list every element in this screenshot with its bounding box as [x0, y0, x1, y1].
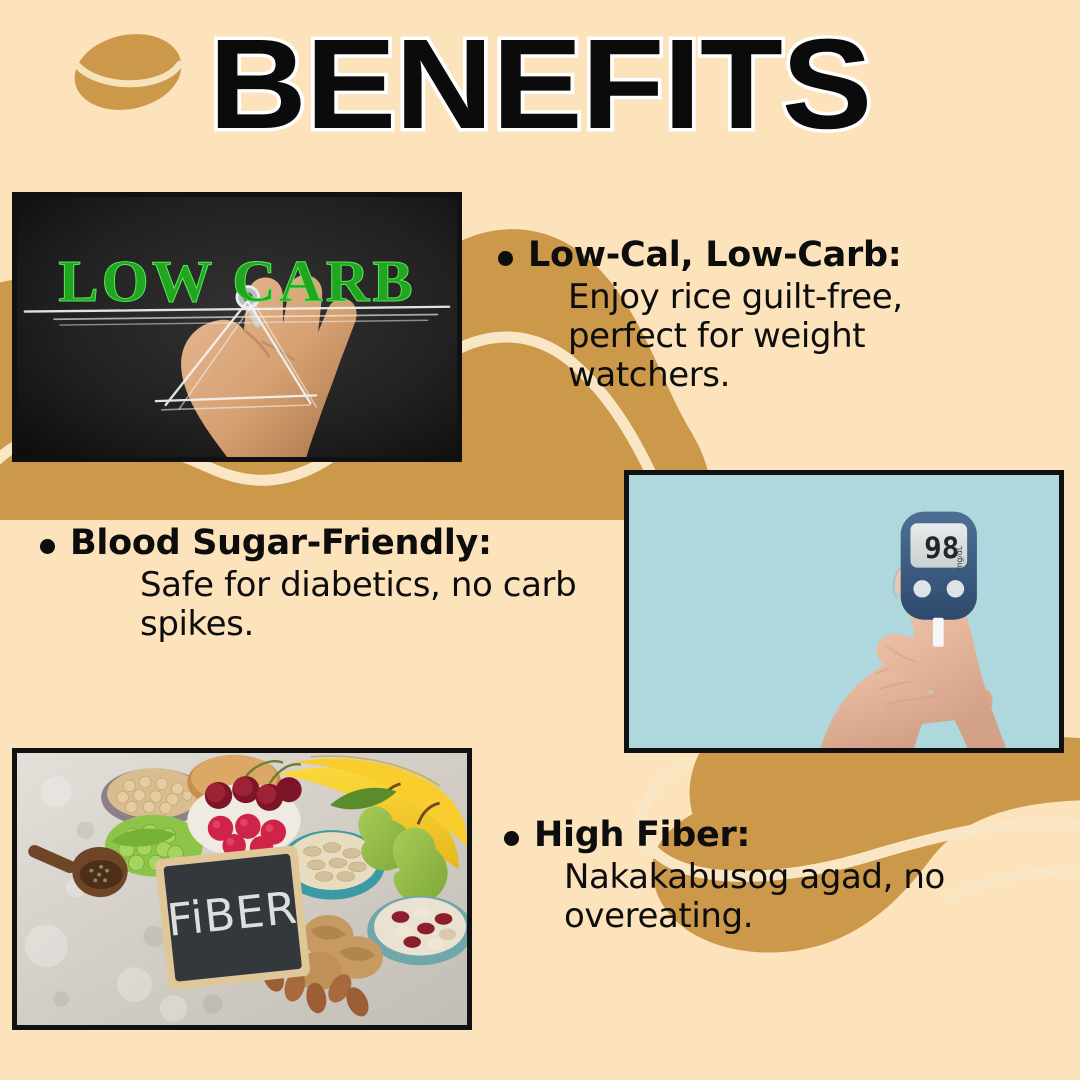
round-bullet-icon [40, 539, 55, 554]
benefit-heading-row: Blood Sugar-Friendly: [40, 524, 640, 563]
low-carb-photo: LOW CARB LOW CARB LOW CARB [12, 192, 462, 462]
round-bullet-icon [498, 251, 513, 266]
benefit-block-high-fiber: High Fiber: Nakakabusog agad, no overeat… [504, 816, 1044, 936]
glucose-unit: mg/dL [955, 545, 964, 570]
page-title: BENEFITS [0, 18, 1080, 152]
benefit-heading-row: High Fiber: [504, 816, 1044, 855]
benefit-body: Enjoy rice guilt-free, perfect for weigh… [568, 278, 998, 394]
glucose-reading: 98 [924, 531, 959, 565]
benefit-heading: High Fiber: [534, 816, 750, 855]
benefit-heading: Low-Cal, Low-Carb: [528, 236, 901, 275]
benefit-body: Safe for diabetics, no carb spikes. [140, 566, 640, 644]
benefit-body: Nakakabusog agad, no overeating. [564, 858, 1044, 936]
benefit-heading: Blood Sugar-Friendly: [70, 524, 492, 563]
infographic-canvas: BENEFITS [0, 0, 1080, 1080]
benefit-block-low-carb: Low-Cal, Low-Carb: Enjoy rice guilt-free… [498, 236, 998, 394]
glucose-meter-photo: 98 mg/dL [624, 470, 1064, 753]
benefit-block-blood-sugar: Blood Sugar-Friendly: Safe for diabetics… [40, 524, 640, 644]
round-bullet-icon [504, 831, 519, 846]
fiber-foods-photo: FiBER [12, 748, 472, 1030]
svg-text:LOW CARB: LOW CARB [58, 248, 415, 314]
benefit-heading-row: Low-Cal, Low-Carb: [498, 236, 998, 275]
fiber-chalkboard: FiBER [155, 845, 311, 990]
